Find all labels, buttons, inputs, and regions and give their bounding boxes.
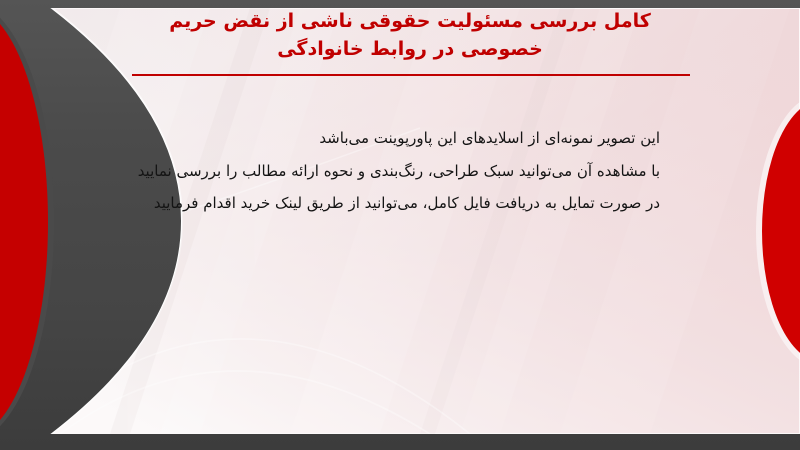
body-line-2: با مشاهده آن می‌توانید سبک طراحی، رنگ‌بن… (100, 155, 660, 188)
body-line-1: این تصویر نمونه‌ای از اسلایدهای این پاور… (100, 122, 660, 155)
panel-shape (0, 8, 800, 434)
title-underline-rule (132, 74, 690, 76)
title-line-2: خصوصی در روابط خانوادگی (120, 36, 700, 64)
title-line-1: کامل بررسی مسئولیت حقوقی ناشی از نقض حری… (120, 8, 700, 36)
content-panel (0, 8, 800, 434)
body-line-3: در صورت تمایل به دریافت فایل کامل، می‌تو… (100, 187, 660, 220)
slide-title: کامل بررسی مسئولیت حقوقی ناشی از نقض حری… (120, 8, 700, 63)
presentation-slide: کامل بررسی مسئولیت حقوقی ناشی از نقض حری… (0, 0, 800, 450)
slide-body: این تصویر نمونه‌ای از اسلایدهای این پاور… (100, 122, 660, 220)
